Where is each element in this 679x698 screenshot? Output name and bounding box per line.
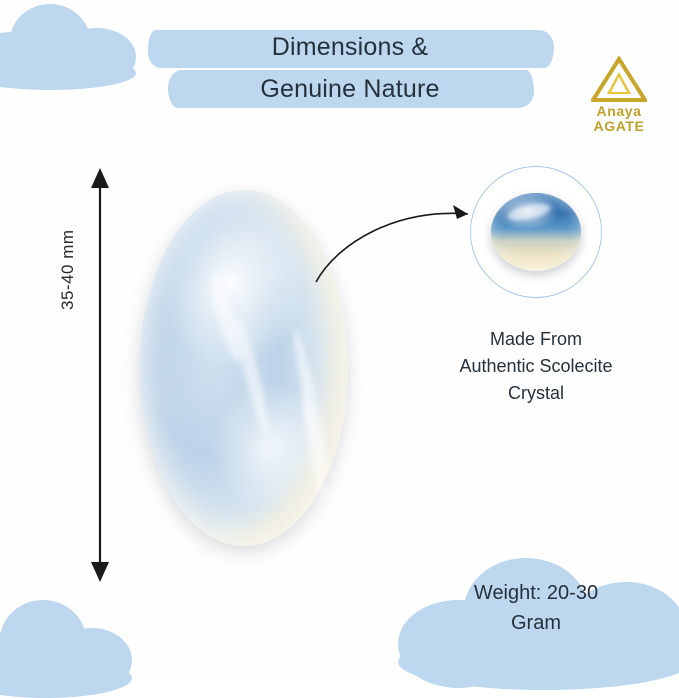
triangle-logo-icon <box>591 56 647 102</box>
title-line-2: Genuine Nature <box>120 68 580 110</box>
weight-caption: Weight: 20-30 Gram <box>408 578 664 638</box>
material-caption-line-3: Crystal <box>410 380 662 407</box>
material-caption-line-1: Made From <box>410 326 662 353</box>
dimension-label: 35-40 mm <box>58 229 78 310</box>
curved-arrow-icon <box>312 196 476 288</box>
product-infographic: Dimensions & Genuine Nature Anaya AGATE … <box>0 0 679 679</box>
cloud-bottom-left-decor <box>0 592 140 692</box>
page-title: Dimensions & Genuine Nature <box>120 26 580 110</box>
magnified-stone-image <box>491 193 581 271</box>
logo-text-line-2: AGATE <box>567 119 671 134</box>
logo-text-line-1: Anaya <box>567 104 671 119</box>
material-caption-line-2: Authentic Scolecite <box>410 353 662 380</box>
double-headed-vertical-arrow-icon <box>86 168 114 582</box>
brand-logo: Anaya AGATE <box>567 56 671 134</box>
material-caption: Made From Authentic Scolecite Crystal <box>410 326 662 407</box>
weight-caption-line-2: Gram <box>408 608 664 638</box>
title-line-1: Dimensions & <box>120 26 580 68</box>
magnified-stone-circle <box>470 166 602 298</box>
weight-caption-line-1: Weight: 20-30 <box>408 578 664 608</box>
